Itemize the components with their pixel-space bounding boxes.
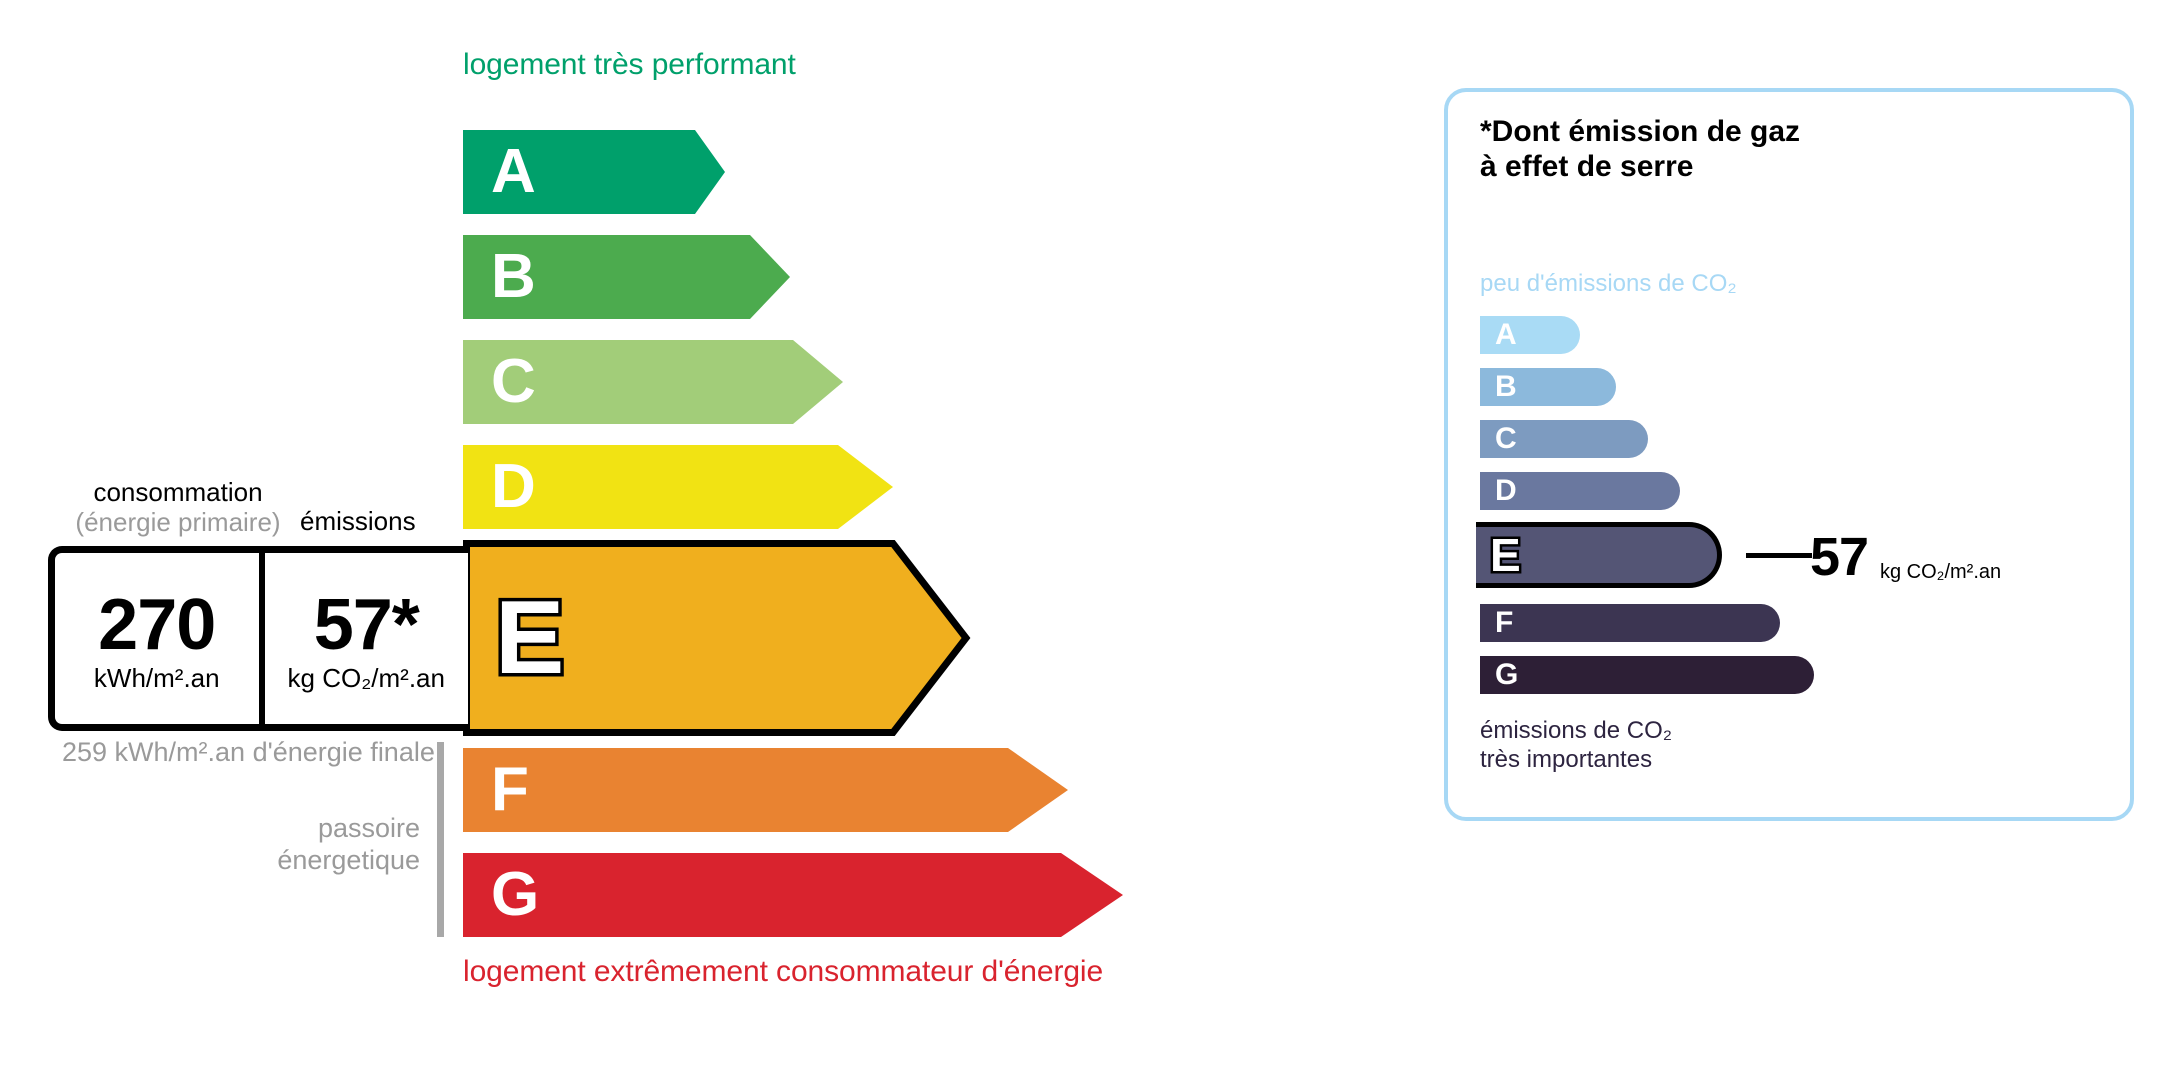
- energy-band-b-letter: B: [491, 246, 536, 308]
- energy-band-e-selected[interactable]: E: [463, 540, 973, 736]
- consumption-value: 270: [98, 591, 215, 659]
- energy-performance-scale: logement très performant A B C D E: [0, 0, 1400, 1079]
- scale-bottom-caption: logement extrêmement consommateur d'éner…: [463, 955, 1103, 989]
- energy-band-f-letter: F: [491, 759, 529, 821]
- energy-band-e-letter: E: [495, 586, 564, 690]
- co2-top-caption: peu d'émissions de CO₂: [1480, 270, 1737, 298]
- energy-band-g-letter: G: [491, 864, 539, 926]
- co2-callout-value: 57: [1810, 530, 1868, 584]
- co2-bar-d-letter: D: [1495, 474, 1517, 507]
- passoire-divider: [437, 742, 444, 937]
- co2-bar-b-letter: B: [1495, 370, 1517, 403]
- consumption-label: consommation: [93, 477, 262, 507]
- co2-bar-b[interactable]: B: [1480, 368, 1616, 406]
- co2-bar-g-letter: G: [1495, 658, 1518, 691]
- co2-bar-c[interactable]: C: [1480, 420, 1648, 458]
- emissions-unit: kg CO₂/m².an: [288, 663, 445, 694]
- emissions-label: émissions: [300, 506, 416, 537]
- co2-bar-f-letter: F: [1495, 606, 1513, 639]
- emissions-value: 57*: [314, 591, 419, 659]
- co2-bar-g[interactable]: G: [1480, 656, 1814, 694]
- emissions-value-cell: 57* kg CO₂/m².an: [259, 553, 469, 724]
- energy-band-b[interactable]: B: [463, 235, 790, 319]
- energy-band-c-letter: C: [491, 351, 536, 413]
- co2-panel-title: *Dont émission de gaz à effet de serre: [1480, 114, 1800, 185]
- co2-bar-e-letter: E: [1490, 532, 1521, 578]
- energy-band-f[interactable]: F: [463, 748, 1068, 832]
- energy-band-d-letter: D: [491, 456, 536, 518]
- band-f-shape: [463, 748, 1068, 832]
- band-g-shape: [463, 853, 1123, 937]
- consumption-unit: kWh/m².an: [94, 663, 220, 694]
- energy-band-d[interactable]: D: [463, 445, 893, 529]
- co2-bar-c-letter: C: [1495, 422, 1517, 455]
- co2-bar-a-letter: A: [1495, 318, 1517, 351]
- consumption-label-group: consommation (énergie primaire): [68, 478, 288, 538]
- consumption-sublabel: (énergie primaire): [68, 508, 288, 538]
- co2-bar-d[interactable]: D: [1480, 472, 1680, 510]
- scale-top-caption: logement très performant: [463, 48, 796, 82]
- energy-band-g[interactable]: G: [463, 853, 1123, 937]
- co2-bar-e-selected[interactable]: E: [1476, 522, 1722, 588]
- passoire-energetique-label: passoire énergetique: [220, 812, 420, 877]
- co2-emissions-panel: *Dont émission de gaz à effet de serre p…: [1444, 88, 2134, 821]
- energy-band-a-letter: A: [491, 141, 536, 203]
- consumption-value-cell: 270 kWh/m².an: [55, 553, 259, 724]
- co2-callout-unit: kg CO₂/m².an: [1880, 562, 2001, 582]
- energy-band-c[interactable]: C: [463, 340, 843, 424]
- energy-band-a[interactable]: A: [463, 130, 725, 214]
- final-energy-label: 259 kWh/m².an d'énergie finale: [62, 736, 435, 768]
- value-box: 270 kWh/m².an 57* kg CO₂/m².an: [48, 546, 468, 731]
- co2-bar-a[interactable]: A: [1480, 316, 1580, 354]
- co2-bar-f[interactable]: F: [1480, 604, 1780, 642]
- co2-callout-leader-line: [1746, 553, 1812, 558]
- co2-bottom-caption: émissions de CO₂ très importantes: [1480, 717, 1672, 775]
